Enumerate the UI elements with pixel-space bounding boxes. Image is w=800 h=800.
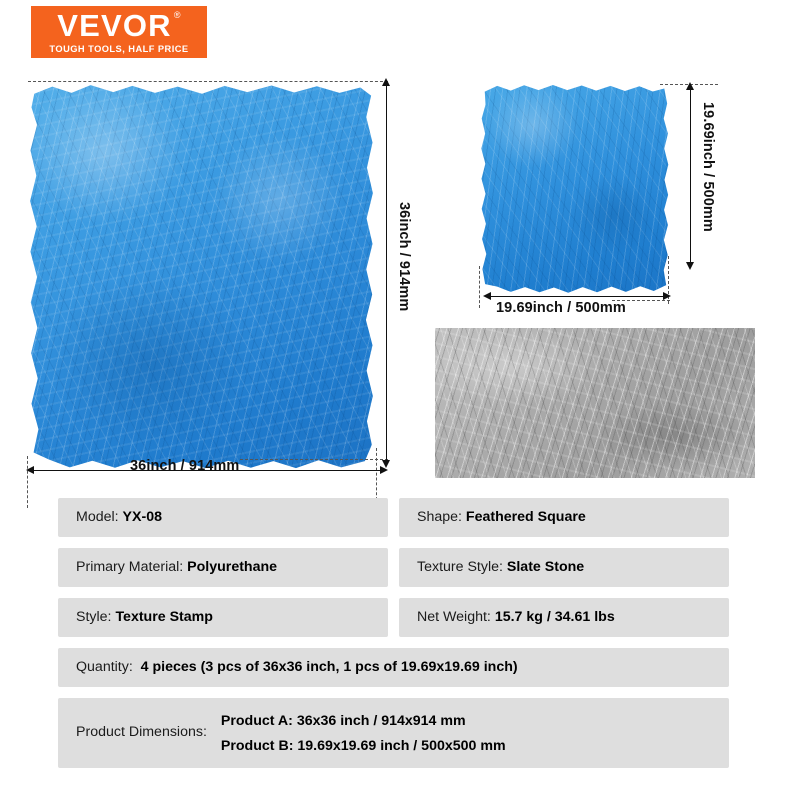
brand-tagline: TOUGH TOOLS, HALF PRICE [49, 45, 188, 54]
product-b-width-dim-line [489, 296, 665, 297]
product-a-width-arrow-left [26, 466, 34, 474]
product-b-image [479, 82, 671, 297]
product-b-height-arrow-top [686, 82, 694, 90]
small-blue-texture-stamp [479, 82, 671, 297]
product-a-top-extension-line [28, 81, 388, 82]
spec-row-product-dimensions: Product Dimensions: Product A: 36x36 inc… [58, 698, 729, 768]
product-a-image [28, 82, 376, 472]
spec-product-dimensions-label: Product Dimensions: [76, 724, 207, 742]
spec-texture-style-text: Texture Style: Slate Stone [417, 559, 584, 577]
product-a-width-arrow-right [380, 466, 388, 474]
spec-model-text: Model: YX-08 [76, 509, 162, 527]
brand-wordmark-text: VEVOR [57, 8, 172, 43]
spec-row-style: Style: Texture Stamp [58, 598, 388, 637]
product-b-height-label: 19.69inch / 500mm [700, 102, 716, 232]
registered-trademark-icon: ® [174, 11, 182, 20]
product-a-bottom-extension-line [240, 459, 388, 460]
product-b-dimension-line: Product B: 19.69x19.69 inch / 500x500 mm [221, 738, 506, 754]
product-b-width-arrow-right [663, 292, 671, 300]
product-a-dimension-line: Product A: 36x36 inch / 914x914 mm [221, 713, 506, 729]
product-a-width-label: 36inch / 914mm [130, 458, 239, 474]
spec-row-net-weight: Net Weight: 15.7 kg / 34.61 lbs [399, 598, 729, 637]
product-a-height-dim-line [386, 84, 387, 466]
spec-row-model: Model: YX-08 [58, 498, 388, 537]
product-b-left-extension-line [479, 266, 480, 308]
spec-row-texture-style: Texture Style: Slate Stone [399, 548, 729, 587]
product-b-width-arrow-left [483, 292, 491, 300]
spec-row-shape: Shape: Feathered Square [399, 498, 729, 537]
spec-row-primary-material: Primary Material: Polyurethane [58, 548, 388, 587]
product-b-width-label: 19.69inch / 500mm [496, 300, 626, 316]
spec-primary-material-text: Primary Material: Polyurethane [76, 559, 277, 577]
product-a-height-arrow-top [382, 78, 390, 86]
spec-net-weight-text: Net Weight: 15.7 kg / 34.61 lbs [417, 609, 615, 627]
brand-wordmark: VEVOR ® [57, 10, 181, 41]
vevor-logo-badge: VEVOR ® TOUGH TOOLS, HALF PRICE [31, 6, 207, 58]
spec-product-dimensions-values: Product A: 36x36 inch / 914x914 mm Produ… [221, 713, 506, 754]
specification-table: Model: YX-08 Primary Material: Polyureth… [0, 498, 800, 773]
spec-shape-text: Shape: Feathered Square [417, 509, 586, 527]
spec-row-quantity: Quantity: 4 pieces (3 pcs of 36x36 inch,… [58, 648, 729, 687]
product-a-height-label: 36inch / 914mm [396, 202, 412, 311]
spec-style-text: Style: Texture Stamp [76, 609, 213, 627]
product-b-height-arrow-bottom [686, 262, 694, 270]
product-b-height-dim-line [690, 88, 691, 268]
product-imagery-area: 36inch / 914mm 36inch / 914mm 19.69inch … [0, 60, 800, 492]
slate-stone-texture-photo [435, 328, 755, 478]
large-blue-texture-stamp [28, 82, 376, 472]
spec-quantity-text: Quantity: 4 pieces (3 pcs of 36x36 inch,… [76, 659, 518, 677]
